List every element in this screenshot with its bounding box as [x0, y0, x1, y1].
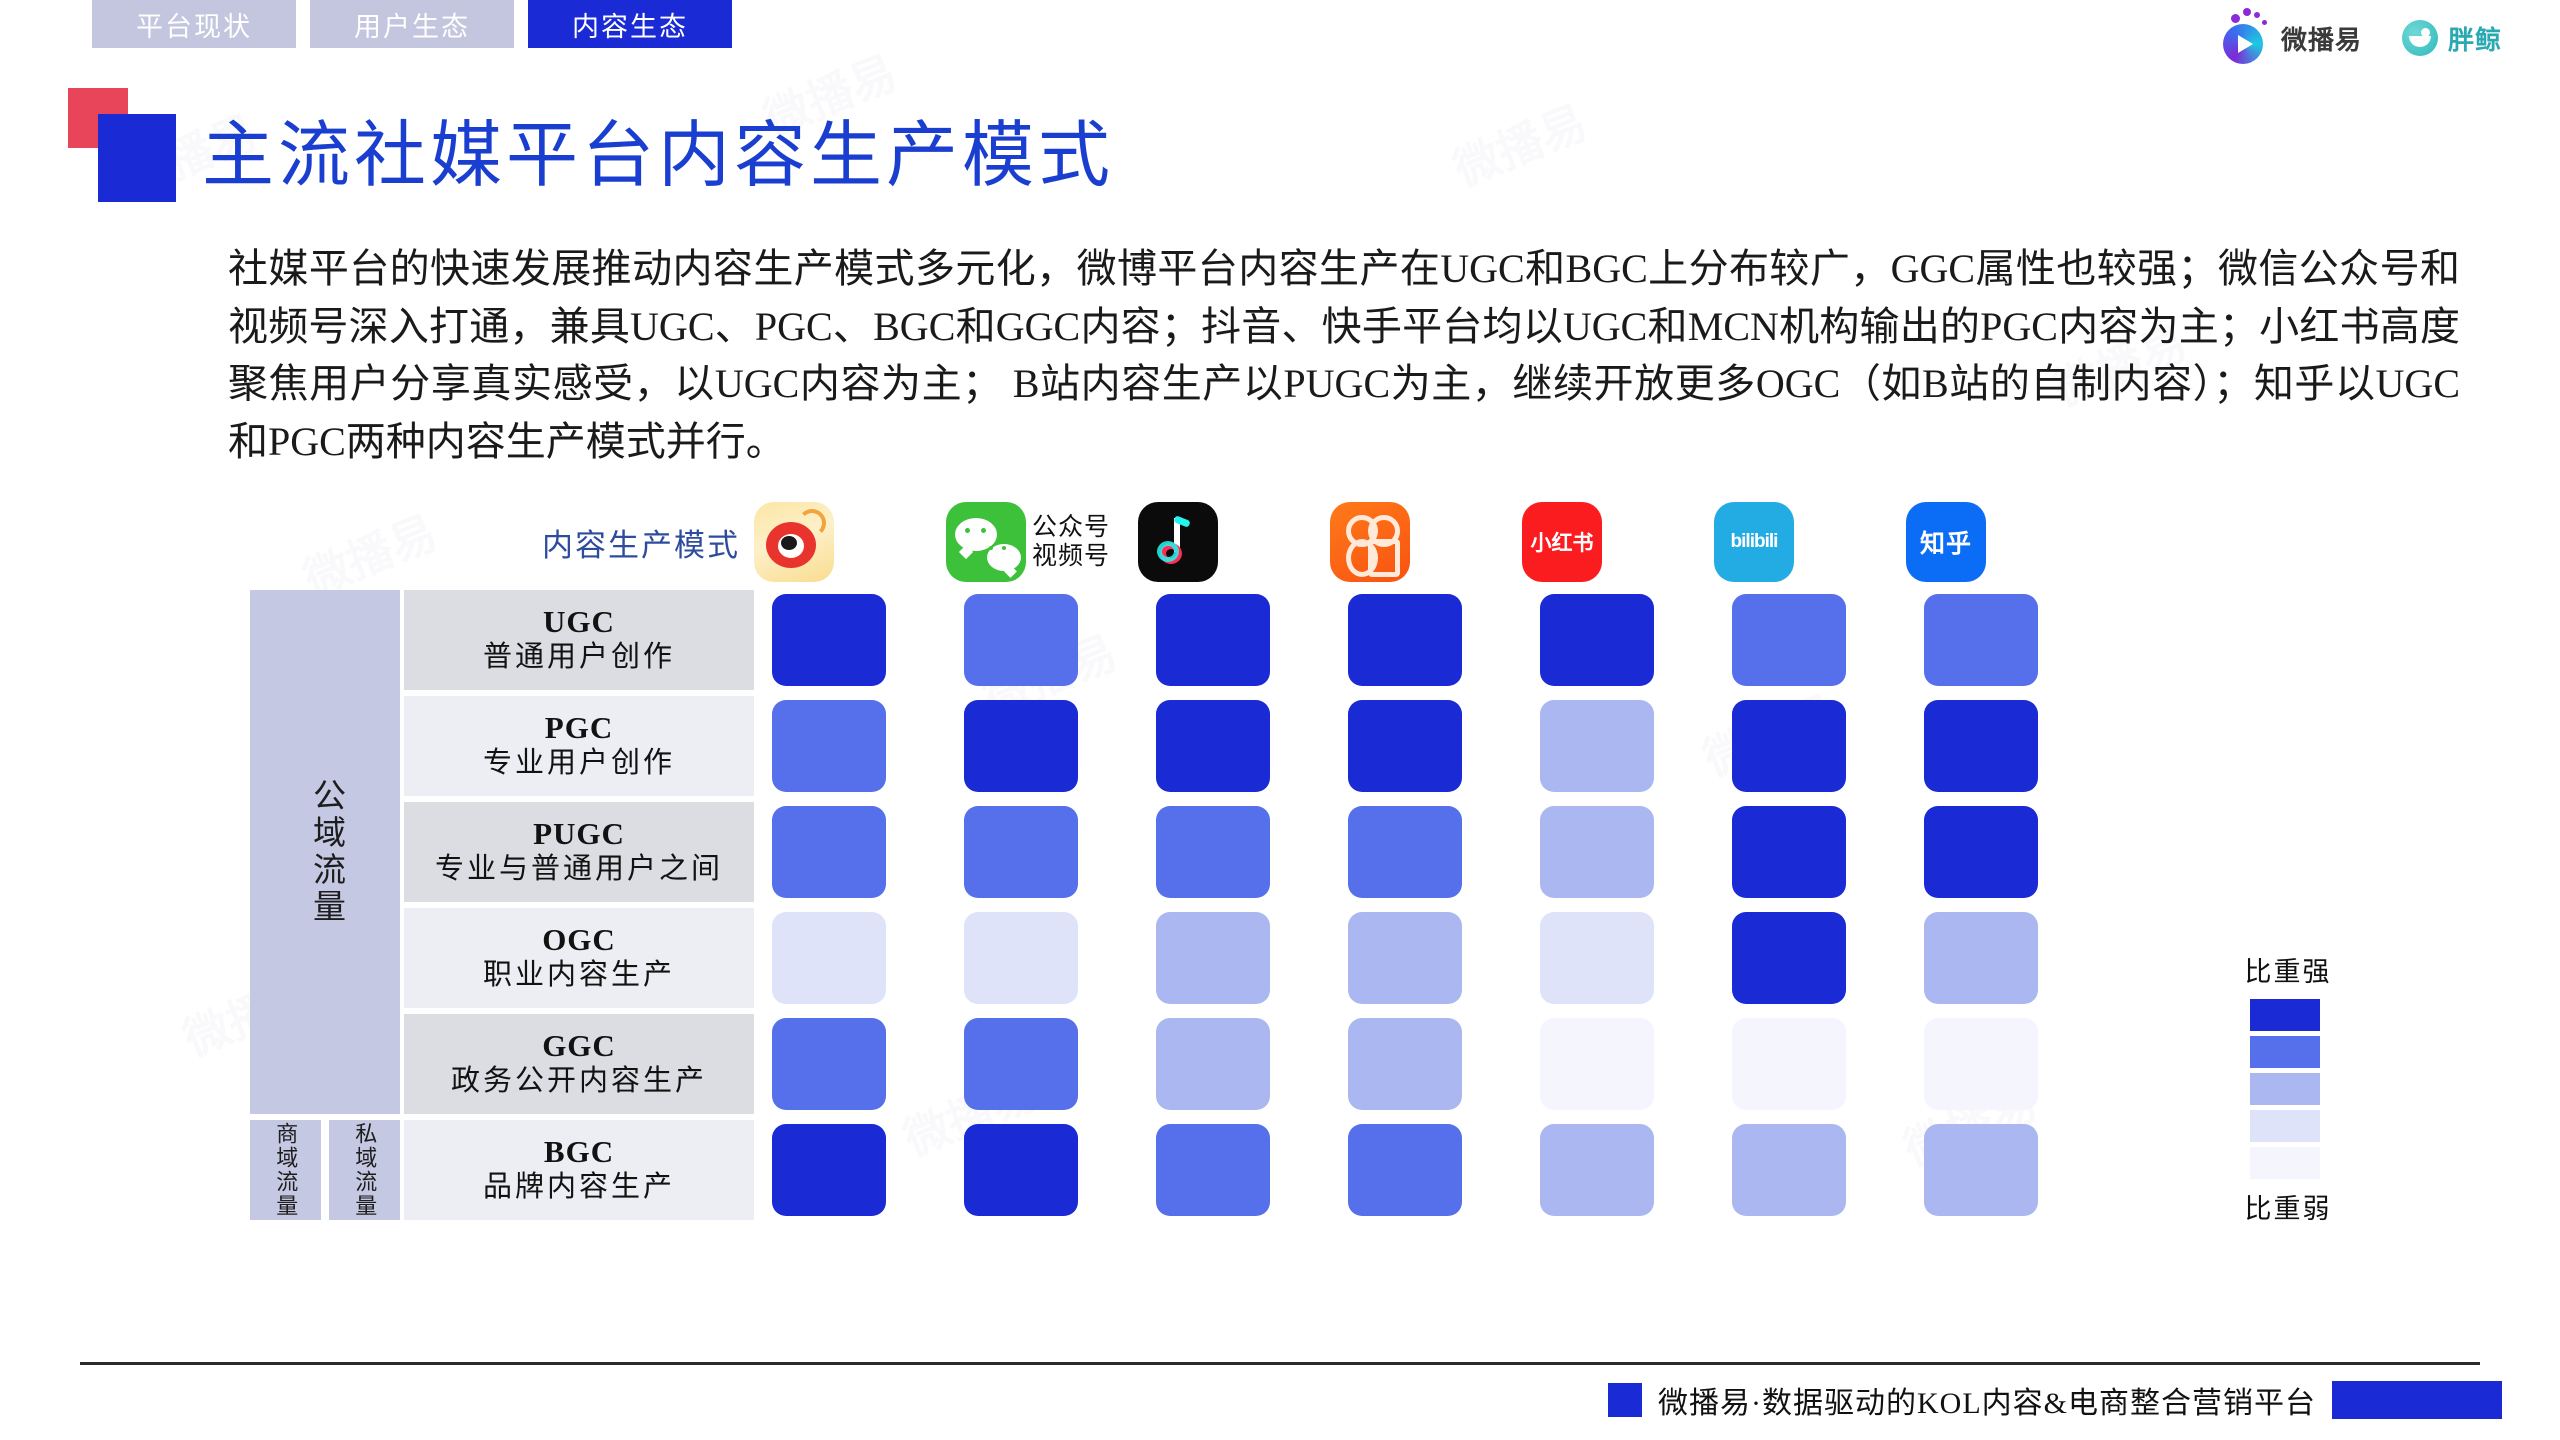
matrix-cell [1924, 594, 2038, 686]
matrix-cell [1156, 700, 1270, 792]
matrix-cell [1156, 912, 1270, 1004]
row-label-ggc: GGC政务公开内容生产 [404, 1014, 754, 1114]
matrix-row-cells [772, 1124, 2116, 1216]
tab-user-ecology[interactable]: 用户生态 [310, 0, 514, 48]
page-footer: 微播易·数据驱动的KOL内容&电商整合营销平台 [0, 1378, 2560, 1422]
matrix-row-cells [772, 700, 2116, 792]
matrix-cell [1156, 594, 1270, 686]
footer-square-icon [1608, 1383, 1642, 1417]
matrix-axis-label: 内容生产模式 [542, 520, 740, 565]
column-header-wechat[interactable]: 公众号视频号 [946, 494, 1138, 590]
legend-swatch-1 [2250, 999, 2320, 1031]
matrix-cell [772, 1124, 886, 1216]
legend-swatch-4 [2250, 1110, 2320, 1142]
weibo-icon [754, 502, 834, 582]
zhihu-icon: 知乎 [1906, 502, 1986, 582]
matrix-row: OGC职业内容生产 [404, 908, 2116, 1008]
legend-swatches [2250, 999, 2348, 1179]
matrix-cell [1348, 1124, 1462, 1216]
column-header-douyin[interactable] [1138, 494, 1330, 590]
public-traffic-band: 公域流量 [250, 590, 400, 1114]
matrix-header-row: 内容生产模式 公众号视频号 [250, 494, 2116, 590]
brand-weiboyi-label: 微播易 [2281, 20, 2362, 57]
matrix-cell [1924, 700, 2038, 792]
matrix-cell [1732, 1018, 1846, 1110]
row-description: 品牌内容生产 [483, 1169, 675, 1205]
column-header-xiaohongshu[interactable]: 小红书 [1522, 494, 1714, 590]
matrix-cell [964, 700, 1078, 792]
brand-weiboyi: 微播易 [2219, 16, 2362, 60]
matrix-cell [1348, 594, 1462, 686]
row-label-ogc: OGC职业内容生产 [404, 908, 754, 1008]
matrix-cell [1348, 806, 1462, 898]
tab-platform-status[interactable]: 平台现状 [92, 0, 296, 48]
matrix-row: GGC政务公开内容生产 [404, 1014, 2116, 1114]
matrix-cell [1732, 700, 1846, 792]
matrix-row: UGC普通用户创作 [404, 590, 2116, 690]
matrix-cell [1732, 912, 1846, 1004]
tab-label: 内容生态 [572, 5, 688, 44]
matrix-cell [1156, 1018, 1270, 1110]
traffic-domain-column: 公域流量 商域流量 私域流量 [250, 590, 400, 1220]
matrix-cell [1156, 1124, 1270, 1216]
matrix-cell [1540, 1124, 1654, 1216]
douyin-icon [1138, 502, 1218, 582]
private-traffic-band: 私域流量 [329, 1120, 400, 1220]
matrix-cell [1156, 806, 1270, 898]
column-header-weibo[interactable] [754, 494, 946, 590]
tab-content-ecology[interactable]: 内容生态 [528, 0, 732, 48]
axis-label-slot: 内容生产模式 [250, 494, 754, 590]
footer-bar-accent [2332, 1381, 2502, 1419]
legend-swatch-3 [2250, 1073, 2320, 1105]
row-label-pgc: PGC专业用户创作 [404, 696, 754, 796]
section-tabs[interactable]: 平台现状 用户生态 内容生态 [92, 0, 732, 48]
wechat-sublabel: 公众号视频号 [1032, 513, 1110, 572]
matrix-cell [1540, 700, 1654, 792]
matrix-cell [1348, 912, 1462, 1004]
matrix-cell [1540, 1018, 1654, 1110]
weiboyi-play-icon [2223, 24, 2263, 64]
matrix-cell [1540, 806, 1654, 898]
row-code: BGC [544, 1135, 614, 1169]
matrix-cell [772, 700, 886, 792]
footer-text: 微播易·数据驱动的KOL内容&电商整合营销平台 [1658, 1378, 2316, 1422]
row-label-ugc: UGC普通用户创作 [404, 590, 754, 690]
row-description: 普通用户创作 [483, 639, 675, 675]
footer-divider [80, 1362, 2480, 1365]
xiaohongshu-icon: 小红书 [1522, 502, 1602, 582]
content-production-matrix: 内容生产模式 公众号视频号 [250, 494, 2116, 1226]
title-decoration [68, 88, 188, 208]
blue-square-accent [98, 114, 176, 202]
brand-pangjing-label: 胖鲸 [2448, 20, 2502, 57]
row-description: 专业与普通用户之间 [435, 851, 723, 887]
matrix-cell [1924, 1018, 2038, 1110]
row-description: 职业内容生产 [483, 957, 675, 993]
row-code: OGC [542, 923, 616, 957]
matrix-cell [964, 594, 1078, 686]
matrix-body: 公域流量 商域流量 私域流量 UGC普通用户创作PGC专业用户创作PUGC专业与… [250, 590, 2116, 1226]
matrix-rows: UGC普通用户创作PGC专业用户创作PUGC专业与普通用户之间OGC职业内容生产… [404, 590, 2116, 1226]
matrix-cell [1540, 594, 1654, 686]
column-header-bilibili[interactable]: bilibili [1714, 494, 1906, 590]
matrix-cell [1924, 806, 2038, 898]
tab-label: 用户生态 [354, 5, 470, 44]
row-description: 专业用户创作 [483, 745, 675, 781]
page-title: 主流社媒平台内容生产模式 [202, 96, 1114, 201]
matrix-row: PGC专业用户创作 [404, 696, 2116, 796]
wechat-icon [946, 502, 1026, 582]
row-code: PGC [545, 711, 613, 745]
matrix-cell [772, 1018, 886, 1110]
legend-strong-label: 比重强 [2228, 950, 2348, 989]
page-title-row: 主流社媒平台内容生产模式 [68, 88, 1114, 208]
row-description: 政务公开内容生产 [451, 1063, 707, 1099]
matrix-cell [1924, 1124, 2038, 1216]
matrix-cell [964, 912, 1078, 1004]
business-traffic-band: 商域流量 [250, 1120, 321, 1220]
bilibili-icon: bilibili [1714, 502, 1794, 582]
matrix-cell [1348, 700, 1462, 792]
row-label-pugc: PUGC专业与普通用户之间 [404, 802, 754, 902]
matrix-cell [1732, 806, 1846, 898]
kuaishou-icon [1330, 502, 1410, 582]
matrix-cell [1732, 594, 1846, 686]
summary-paragraph: 社媒平台的快速发展推动内容生产模式多元化，微博平台内容生产在UGC和BGC上分布… [228, 240, 2460, 470]
matrix-cell [772, 912, 886, 1004]
column-header-kuaishou[interactable] [1330, 494, 1522, 590]
matrix-row-cells [772, 1018, 2116, 1110]
matrix-cell [1348, 1018, 1462, 1110]
matrix-cell [964, 1124, 1078, 1216]
pangjing-whale-icon [2402, 20, 2438, 56]
matrix-cell [1924, 912, 2038, 1004]
matrix-row: PUGC专业与普通用户之间 [404, 802, 2116, 902]
matrix-cell [1732, 1124, 1846, 1216]
legend-swatch-2 [2250, 1036, 2320, 1068]
matrix-cell [772, 594, 886, 686]
row-label-bgc: BGC品牌内容生产 [404, 1120, 754, 1220]
intensity-legend: 比重强 比重弱 [2228, 950, 2348, 1226]
tab-label: 平台现状 [136, 5, 252, 44]
matrix-cell [1540, 912, 1654, 1004]
matrix-cell [772, 806, 886, 898]
row-code: UGC [543, 605, 615, 639]
legend-weak-label: 比重弱 [2228, 1187, 2348, 1226]
matrix-cell [964, 1018, 1078, 1110]
matrix-row: BGC品牌内容生产 [404, 1120, 2116, 1220]
matrix-row-cells [772, 806, 2116, 898]
column-header-zhihu[interactable]: 知乎 [1906, 494, 2098, 590]
matrix-row-cells [772, 594, 2116, 686]
matrix-cell [964, 806, 1078, 898]
matrix-row-cells [772, 912, 2116, 1004]
row-code: PUGC [533, 817, 625, 851]
brand-pangjing: 胖鲸 [2402, 20, 2502, 57]
row-code: GGC [542, 1029, 616, 1063]
legend-swatch-5 [2250, 1147, 2320, 1179]
brand-logos: 微播易 胖鲸 [2219, 16, 2502, 60]
